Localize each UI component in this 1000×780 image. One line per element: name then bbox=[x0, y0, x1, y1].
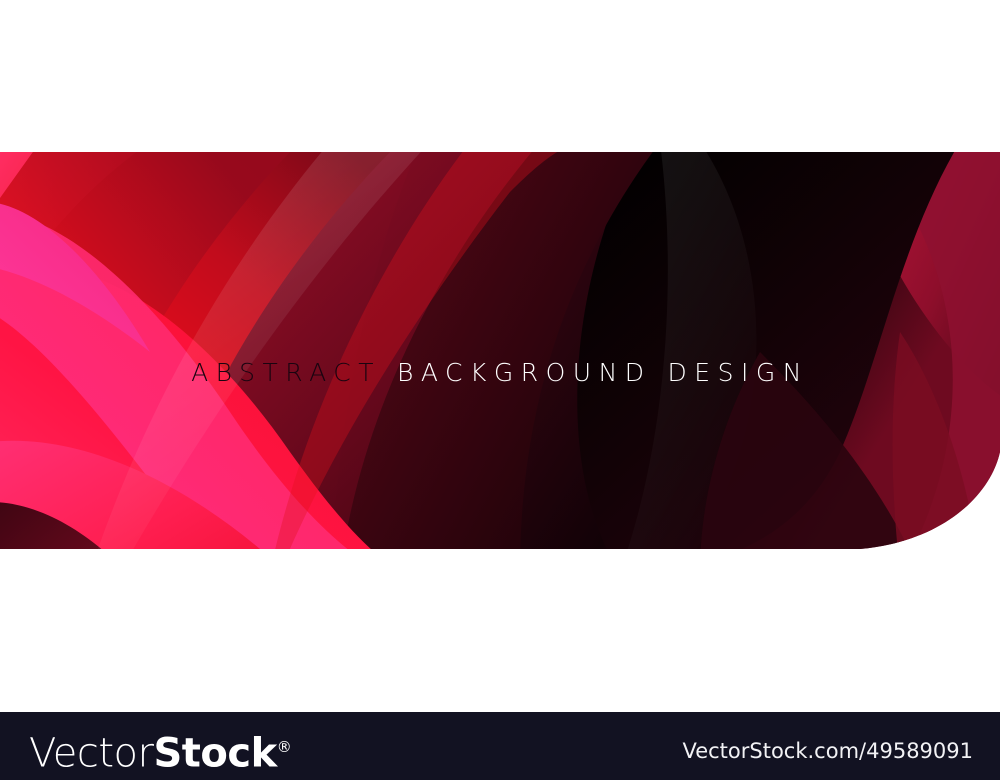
abstract-banner-artwork bbox=[0, 152, 1000, 549]
screenshot-canvas: ABSTRACTBACKGROUNDDESIGN VectorStock® Ve… bbox=[0, 0, 1000, 780]
abstract-banner-svg bbox=[0, 152, 1000, 549]
logo-text-stock: Stock bbox=[153, 730, 276, 776]
vectorstock-logo[interactable]: VectorStock® bbox=[29, 725, 292, 775]
vectorstock-url[interactable]: VectorStock.com/49589091 bbox=[682, 738, 973, 764]
headline-word-design: DESIGN bbox=[668, 358, 809, 387]
headline-text: ABSTRACTBACKGROUNDDESIGN bbox=[0, 358, 1000, 388]
registered-trademark-icon: ® bbox=[277, 738, 292, 756]
headline-word-abstract: ABSTRACT bbox=[191, 358, 381, 387]
headline-word-background: BACKGROUND bbox=[397, 358, 652, 387]
footer-bar: VectorStock® VectorStock.com/49589091 bbox=[0, 712, 1000, 780]
logo-text-vector: Vector bbox=[29, 730, 153, 776]
